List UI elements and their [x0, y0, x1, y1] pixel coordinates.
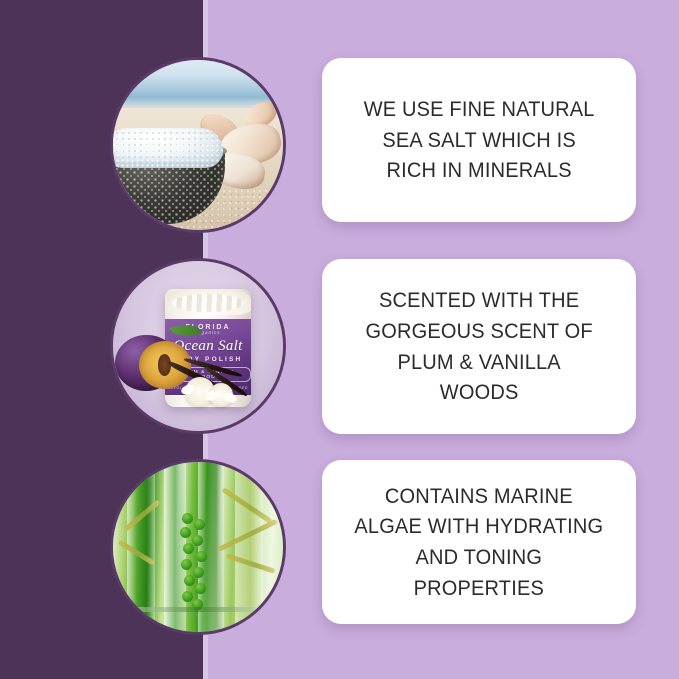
vanilla-flower-icon	[209, 383, 233, 407]
infographic-canvas: WE USE FINE NATURAL SEA SALT WHICH IS RI…	[0, 0, 679, 679]
feature-text: CONTAINS MARINE ALGAE WITH HYDRATING AND…	[355, 481, 604, 603]
feature-image-product-jar: FLORIDA organics Ocean Salt BODY POLISH …	[110, 258, 286, 434]
marine-algae-photo	[113, 462, 283, 632]
product-jar-photo: FLORIDA organics Ocean Salt BODY POLISH …	[113, 261, 283, 431]
feature-image-marine-algae	[110, 459, 286, 635]
feature-text: WE USE FINE NATURAL SEA SALT WHICH IS RI…	[364, 94, 595, 186]
feature-text: SCENTED WITH THE GORGEOUS SCENT OF PLUM …	[365, 285, 592, 407]
plum-halved	[139, 341, 191, 389]
feature-card-scent: SCENTED WITH THE GORGEOUS SCENT OF PLUM …	[322, 259, 636, 434]
feature-card-sea-salt: WE USE FINE NATURAL SEA SALT WHICH IS RI…	[322, 58, 636, 222]
feature-card-marine-algae: CONTAINS MARINE ALGAE WITH HYDRATING AND…	[322, 460, 636, 624]
cream-swirl	[165, 289, 251, 315]
sea-salt-heap	[110, 128, 223, 168]
feature-image-sea-salt	[110, 57, 286, 233]
salt-grain-texture	[110, 128, 223, 168]
sea-salt-photo	[113, 60, 283, 230]
algae-shelf-line	[113, 607, 283, 612]
